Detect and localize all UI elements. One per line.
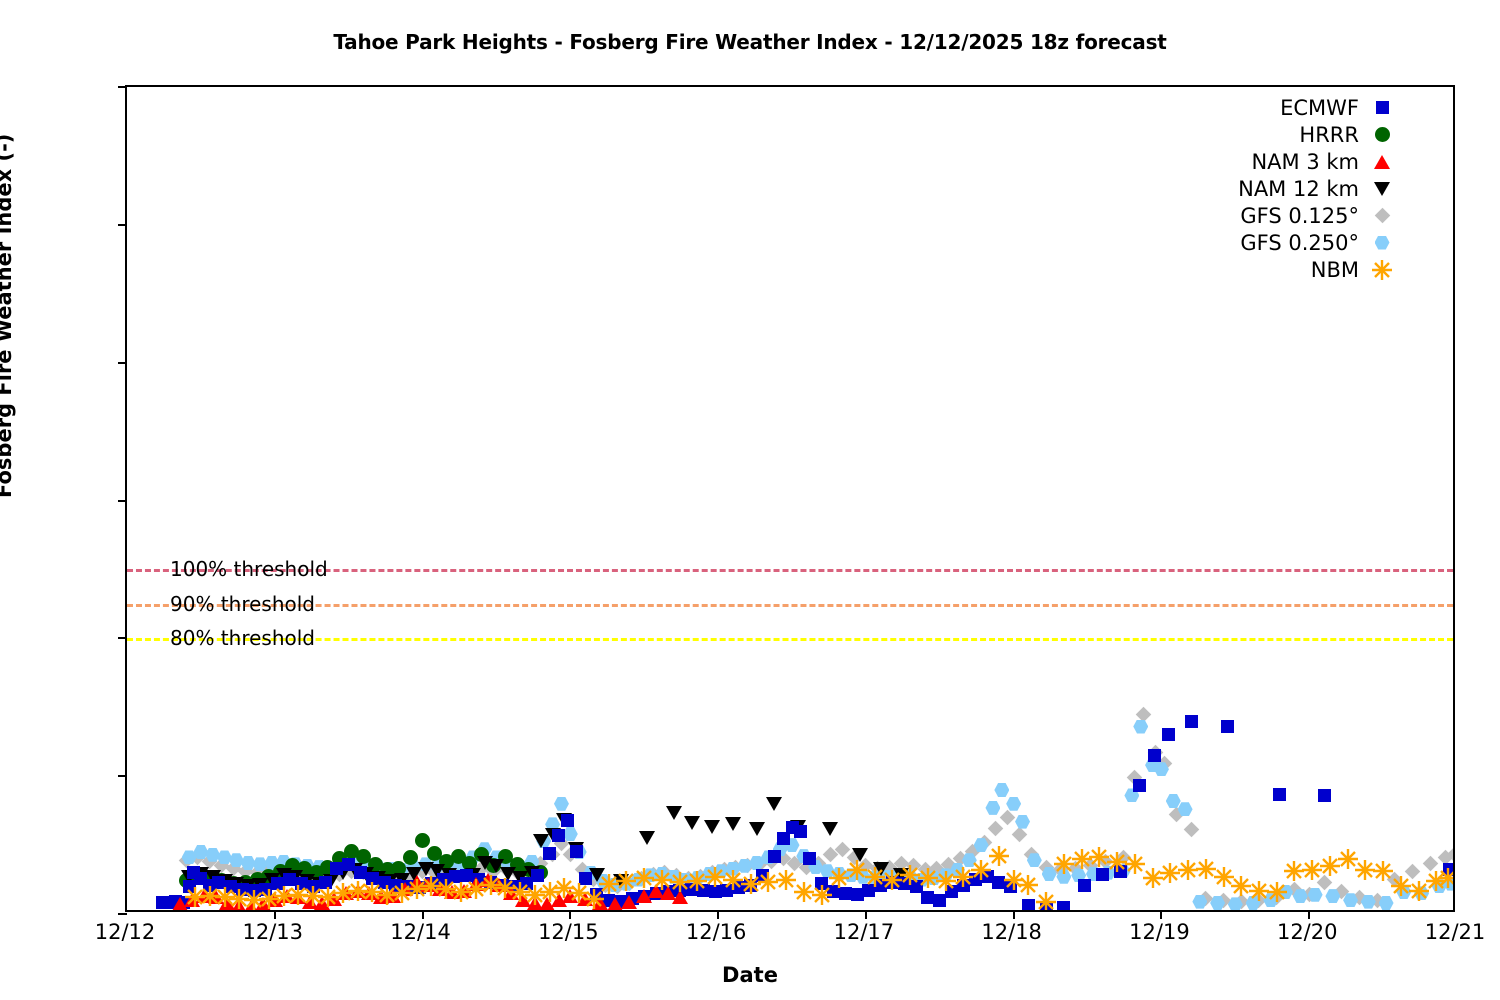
y-axis-label: Fosberg Fire Weather Index (-) xyxy=(0,134,16,498)
y-tick-mark xyxy=(118,362,127,364)
data-point xyxy=(1266,881,1288,903)
legend-item-gfs-0-125[interactable]: GFS 0.125° xyxy=(1180,202,1405,229)
x-tick-label: 12/21 xyxy=(1425,920,1486,944)
legend-label: GFS 0.250° xyxy=(1240,231,1359,255)
legend-label: GFS 0.125° xyxy=(1240,204,1359,228)
x-tick-label: 12/20 xyxy=(1277,920,1338,944)
legend-item-gfs-0-250[interactable]: GFS 0.250° xyxy=(1180,229,1405,256)
x-tick-label: 12/17 xyxy=(834,920,895,944)
x-tick-label: 12/13 xyxy=(243,920,304,944)
x-tick-mark xyxy=(865,910,867,919)
x-axis-label: Date xyxy=(0,963,1500,987)
data-point xyxy=(1437,867,1453,889)
legend-label: NAM 3 km xyxy=(1251,150,1359,174)
y-tick-mark xyxy=(118,913,127,915)
x-tick-label: 12/16 xyxy=(686,920,747,944)
legend-item-nbm[interactable]: NBM xyxy=(1180,256,1405,283)
legend-item-nam-12-km[interactable]: NAM 12 km xyxy=(1180,175,1405,202)
legend-marker-hexagon-icon xyxy=(1359,229,1405,256)
x-tick-label: 12/15 xyxy=(538,920,599,944)
legend-marker-asterisk-icon xyxy=(1359,256,1405,283)
legend-label: HRRR xyxy=(1299,123,1359,147)
legend-marker-circle-icon xyxy=(1359,121,1405,148)
y-tick-mark xyxy=(118,500,127,502)
legend-marker-triangle-down-icon xyxy=(1359,175,1405,202)
x-tick-mark xyxy=(717,910,719,919)
legend-label: NAM 12 km xyxy=(1238,177,1359,201)
page-title: Tahoe Park Heights - Fosberg Fire Weathe… xyxy=(0,30,1500,54)
x-tick-mark xyxy=(569,910,571,919)
x-tick-label: 12/18 xyxy=(981,920,1042,944)
y-tick-mark xyxy=(118,775,127,777)
threshold-label: 80% threshold xyxy=(170,626,315,650)
x-tick-mark xyxy=(1308,910,1310,919)
threshold-label: 100% threshold xyxy=(170,557,328,581)
legend-marker-triangle-up-icon xyxy=(1359,148,1405,175)
legend-marker-diamond-icon xyxy=(1359,202,1405,229)
x-tick-mark xyxy=(274,910,276,919)
y-tick-mark xyxy=(118,86,127,88)
x-tick-mark xyxy=(1013,910,1015,919)
legend: ECMWFHRRRNAM 3 kmNAM 12 kmGFS 0.125°GFS … xyxy=(1180,94,1405,283)
x-tick-mark xyxy=(1160,910,1162,919)
legend-marker-square-icon xyxy=(1359,94,1405,121)
legend-item-hrrr[interactable]: HRRR xyxy=(1180,121,1405,148)
threshold-label: 90% threshold xyxy=(170,592,315,616)
x-tick-label: 12/14 xyxy=(390,920,451,944)
x-tick-label: 12/19 xyxy=(1129,920,1190,944)
data-point xyxy=(1035,891,1057,910)
legend-label: ECMWF xyxy=(1280,96,1359,120)
y-tick-mark xyxy=(118,637,127,639)
legend-item-nam-3-km[interactable]: NAM 3 km xyxy=(1180,148,1405,175)
legend-item-ecmwf[interactable]: ECMWF xyxy=(1180,94,1405,121)
chart-canvas: Tahoe Park Heights - Fosberg Fire Weathe… xyxy=(0,0,1500,1000)
x-tick-label: 12/12 xyxy=(95,920,156,944)
data-point xyxy=(988,845,1010,867)
legend-label: NBM xyxy=(1311,258,1359,282)
y-tick-mark xyxy=(118,224,127,226)
x-tick-mark xyxy=(422,910,424,919)
